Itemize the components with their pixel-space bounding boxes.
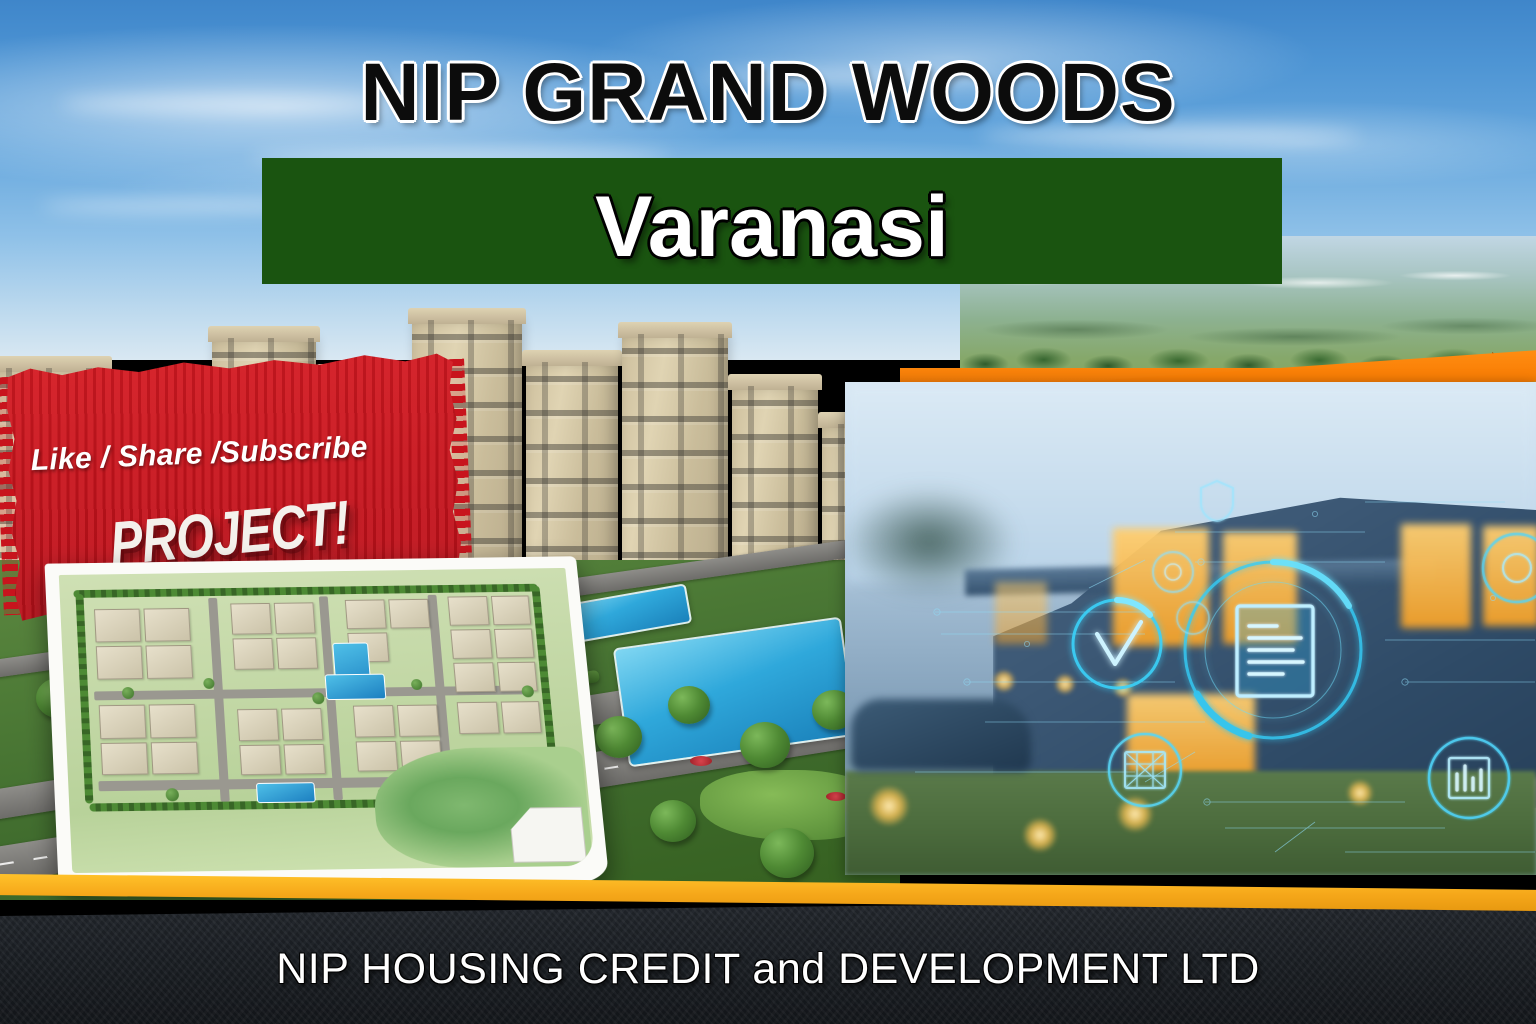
location-title: Varanasi [262,178,1282,277]
garden-light-icon [1113,678,1133,698]
lake-area [370,746,593,868]
smart-home-photo[interactable] [845,382,1536,875]
garden-light-icon [1117,796,1153,832]
photo-car [851,699,1031,771]
garden-light-icon [869,786,909,826]
page-title: NIP GRAND WOODS [0,46,1536,140]
photo-foliage [845,442,1085,642]
photo-window [1127,694,1255,780]
photo-window [1223,532,1297,644]
garden-light-icon [1347,780,1373,806]
garden-light-icon [993,670,1015,692]
photo-lawn [845,771,1536,875]
garden-light-icon [1023,818,1057,852]
site-plan-image[interactable] [45,556,610,892]
site-plan-content [59,568,596,873]
promotional-poster: NIP GRAND WOODS Varanasi Like / Share /S… [0,0,1536,1024]
garden-light-icon [1055,674,1075,694]
photo-window [1113,528,1209,646]
photo-window [1483,526,1536,626]
photo-window [1401,524,1471,628]
company-name: NIP HOUSING CREDIT and DEVELOPMENT LTD [0,945,1536,994]
photo-window [995,582,1047,644]
